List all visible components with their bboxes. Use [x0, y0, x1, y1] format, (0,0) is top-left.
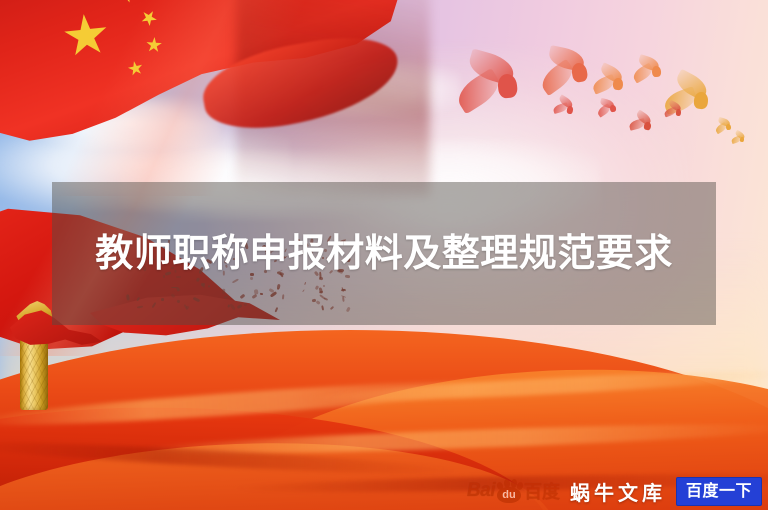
- watermark-bar: Bai du 百度 蜗牛文库 百度一下: [467, 476, 762, 506]
- baidu-logo-latin: Bai: [467, 480, 495, 502]
- site-name-watermark: 蜗牛文库: [570, 477, 666, 506]
- baidu-search-button[interactable]: 百度一下: [676, 477, 762, 506]
- baidu-paw-icon: du: [496, 480, 522, 503]
- poster-canvas: 教师职称申报材料及整理规范要求 Bai du 百度 蜗牛文库 百度一下: [0, 0, 768, 510]
- chinese-flag: [0, 0, 408, 196]
- baidu-paw-label: du: [496, 489, 522, 501]
- baidu-logo: Bai du 百度: [467, 478, 560, 504]
- baidu-logo-chinese: 百度: [524, 478, 560, 504]
- title-overlay-panel: 教师职称申报材料及整理规范要求: [52, 182, 716, 325]
- page-title: 教师职称申报材料及整理规范要求: [74, 227, 694, 279]
- golden-huabiao-pillar: [14, 300, 54, 410]
